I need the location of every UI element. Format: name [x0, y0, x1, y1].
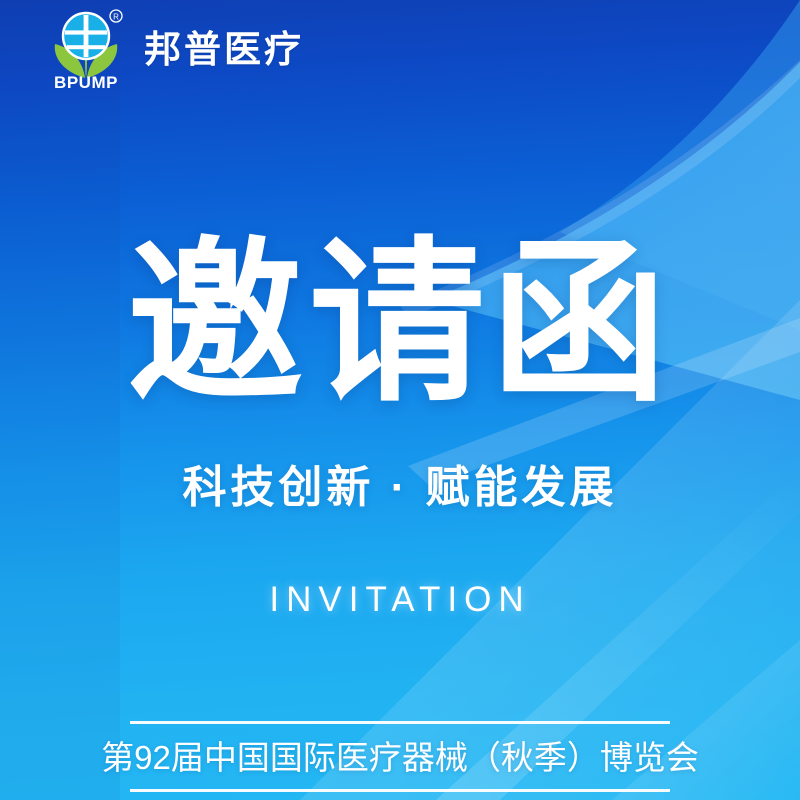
logo-wordmark: BPUMP: [54, 73, 118, 90]
hero-subtitle: 科技创新 · 赋能发展: [182, 466, 617, 510]
hero-title: 邀请函: [127, 236, 673, 412]
poster-content: 邀请函 科技创新 · 赋能发展 INVITATION: [0, 0, 800, 800]
emblem-bar-vertical-icon: [84, 15, 89, 57]
logo-svg: R BPUMP: [44, 6, 128, 90]
emblem-bar-horizontal-upper-icon: [65, 30, 107, 34]
brand-header: R BPUMP 邦普医疗: [44, 6, 304, 90]
bpump-emblem-icon: R BPUMP: [44, 6, 128, 90]
invitation-poster: R BPUMP 邦普医疗 邀请函 科技创新 · 赋能发展 INVITATION …: [0, 0, 800, 800]
registered-mark-letter: R: [113, 12, 119, 21]
hero-subtitle-en: INVITATION: [269, 582, 530, 617]
brand-name-cn: 邦普医疗: [144, 31, 304, 68]
emblem-bar-horizontal-lower-icon: [67, 45, 105, 49]
